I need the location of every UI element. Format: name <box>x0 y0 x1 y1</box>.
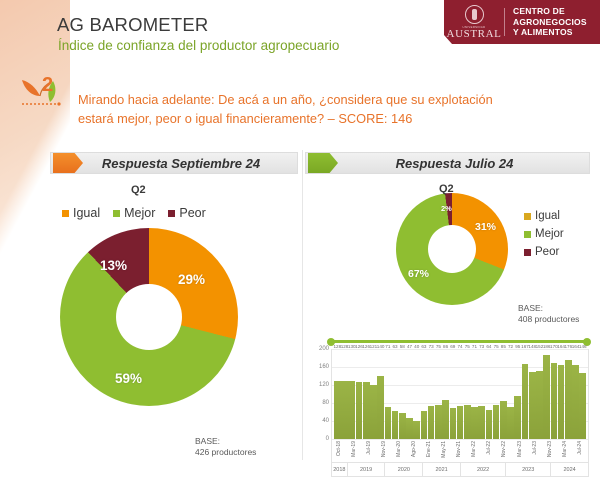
bar-column: 95 <box>514 349 521 439</box>
panel-header-label-right: Respuesta Julio 24 <box>338 156 589 171</box>
bar: 69 <box>450 408 457 439</box>
bar: 164 <box>558 365 565 439</box>
donut-label-peor-left: 13% <box>100 258 127 273</box>
base-value-right: 408 productores <box>518 314 579 325</box>
year-group-label: 2021 <box>422 462 460 477</box>
legend-item-mejor: Mejor <box>524 228 564 240</box>
logo-center-line-3: Y ALIMENTOS <box>513 27 587 38</box>
bar-value-label: 72 <box>508 344 513 349</box>
tree-icon <box>465 5 484 24</box>
bar: 148 <box>529 372 536 439</box>
bar: 71 <box>471 407 478 439</box>
bar-column: 73 <box>478 349 485 439</box>
y-axis-tick: 40 <box>322 418 329 424</box>
bar-value-label: 74 <box>457 344 462 349</box>
base-note-left: BASE: 426 productores <box>195 436 256 458</box>
x-axis-label-slot: Nov-22 <box>498 440 506 462</box>
x-axis-label-slot: Nov-23 <box>543 440 551 462</box>
bar-value-label: 40 <box>414 344 419 349</box>
year-group-label: 2020 <box>384 462 422 477</box>
bar: 126 <box>363 382 370 439</box>
base-label-left: BASE: <box>195 436 256 447</box>
bar: 63 <box>421 411 428 439</box>
bar: 63 <box>392 411 399 439</box>
x-axis-label-slot <box>385 440 393 462</box>
bar-column: 69 <box>450 349 457 439</box>
bar: 73 <box>428 406 435 439</box>
legend-label-peor: Peor <box>179 206 205 220</box>
x-axis-label-slot: Jul-19 <box>362 440 370 462</box>
bar-column: 126 <box>363 349 370 439</box>
x-axis-label-slot: Mar-20 <box>392 440 400 462</box>
austral-wordmark: UNIVERSIDAD AUSTRAL <box>444 5 504 40</box>
bar-value-label: 64 <box>486 344 491 349</box>
bar-column: 121 <box>370 349 377 439</box>
bar-column: 140 <box>377 349 384 439</box>
bar-value-label: 69 <box>450 344 455 349</box>
panel-header-label-left: Respuesta Septiembre 24 <box>83 156 297 171</box>
page-subtitle: Índice de confianza del productor agrope… <box>58 38 339 53</box>
x-axis-label-slot <box>581 440 589 462</box>
bar: 85 <box>500 401 507 439</box>
donut-hole-right <box>428 225 476 273</box>
x-axis-label-slot <box>415 440 423 462</box>
y-axis-tick: 200 <box>319 346 329 352</box>
x-axis-label-slot: Jul-22 <box>483 440 491 462</box>
x-axis-label-slot <box>400 440 408 462</box>
bar-value-label: 146 <box>579 344 587 349</box>
bar-series: 1281281301261261211407163584740637375866… <box>333 349 587 439</box>
bar-column: 167 <box>522 349 529 439</box>
legend-swatch-peor <box>524 249 531 256</box>
bar-column: 126 <box>356 349 363 439</box>
donut-label-peor-right: 2% <box>441 204 452 213</box>
bar-column: 71 <box>385 349 392 439</box>
bar: 130 <box>348 381 355 440</box>
bar-column: 72 <box>507 349 514 439</box>
bar-column: 40 <box>413 349 420 439</box>
bar-value-label: 85 <box>501 344 506 349</box>
x-axis-label-slot: Mar-24 <box>558 440 566 462</box>
bar: 176 <box>565 360 572 439</box>
bar: 167 <box>522 364 529 439</box>
x-axis-label-slot: Mar-23 <box>513 440 521 462</box>
legend-item-mejor: Mejor <box>113 206 155 220</box>
x-axis-label-slot <box>460 440 468 462</box>
bar-column: 58 <box>399 349 406 439</box>
bar-column: 73 <box>428 349 435 439</box>
x-axis-label-slot <box>475 440 483 462</box>
legend-item-peor: Peor <box>168 206 205 220</box>
bar-value-label: 140 <box>377 344 385 349</box>
bar-column: 164 <box>572 349 579 439</box>
chart-title-left: Q2 <box>131 184 146 196</box>
bar: 74 <box>457 406 464 439</box>
bar: 75 <box>435 405 442 439</box>
x-axis-label-slot: Mar-19 <box>347 440 355 462</box>
y-axis-tick: 0 <box>326 436 329 442</box>
legend-right: Igual Mejor Peor <box>524 210 564 258</box>
bar-column: 71 <box>471 349 478 439</box>
bar-column: 85 <box>500 349 507 439</box>
bar-value-label: 75 <box>465 344 470 349</box>
bar-column: 186 <box>543 349 550 439</box>
donut-label-igual-left: 29% <box>178 272 205 287</box>
bar: 75 <box>464 405 471 439</box>
panel-divider <box>302 150 303 460</box>
bar: 164 <box>572 365 579 439</box>
bar-value-label: 71 <box>385 344 390 349</box>
page-title: AG BAROMETER <box>57 14 208 36</box>
bar: 140 <box>377 376 384 439</box>
x-axis-label-slot: Jul-23 <box>528 440 536 462</box>
question-text: Mirando hacia adelante: De acá a un año,… <box>78 90 578 128</box>
x-axis-label-slot <box>340 440 348 462</box>
bar: 95 <box>514 396 521 439</box>
question-text-line-2: estará mejor, peor o igual financieramen… <box>78 109 578 128</box>
bar: 152 <box>536 371 543 439</box>
x-axis-label-slot <box>490 440 498 462</box>
logo-austral-label: AUSTRAL <box>447 29 502 40</box>
year-group-label: 2018 <box>331 462 347 477</box>
bar-value-label: 58 <box>400 344 405 349</box>
base-value-left: 426 productores <box>195 447 256 458</box>
x-axis-label-slot <box>565 440 573 462</box>
donut-hole-left <box>116 284 182 350</box>
bar-column: 75 <box>493 349 500 439</box>
x-axis-year-groups: 2018201920202021202220232024 <box>331 462 589 477</box>
year-group-label: 2022 <box>460 462 505 477</box>
bar: 47 <box>406 418 413 439</box>
x-axis-label-slot <box>550 440 558 462</box>
x-axis-label-slot: Jul-24 <box>573 440 581 462</box>
year-group-label: 2023 <box>505 462 550 477</box>
bar-column: 130 <box>348 349 355 439</box>
legend-item-igual: Igual <box>524 210 564 222</box>
bar-value-label: 86 <box>443 344 448 349</box>
question-text-line-1: Mirando hacia adelante: De acá a un año,… <box>78 90 578 109</box>
bar-column: 128 <box>341 349 348 439</box>
bar-column: 47 <box>406 349 413 439</box>
bar-value-label: 95 <box>515 344 520 349</box>
bar: 128 <box>334 381 341 439</box>
bar: 126 <box>356 382 363 439</box>
x-axis-label-slot: May-21 <box>437 440 445 462</box>
year-group-label: 2024 <box>550 462 589 477</box>
bar: 128 <box>341 381 348 439</box>
bar-column: 63 <box>392 349 399 439</box>
bar-value-label: 63 <box>393 344 398 349</box>
bar-value-label: 71 <box>472 344 477 349</box>
legend-swatch-igual <box>62 210 69 217</box>
x-axis-label-slot: Nov-19 <box>377 440 385 462</box>
x-axis-label-slot <box>370 440 378 462</box>
legend-left: Igual Mejor Peor <box>62 206 206 220</box>
panel-header-julio: Respuesta Julio 24 <box>305 152 590 174</box>
chart-title-right: Q2 <box>439 183 454 195</box>
bar-column: 75 <box>464 349 471 439</box>
legend-swatch-mejor <box>524 231 531 238</box>
bar: 64 <box>486 410 493 439</box>
legend-item-peor: Peor <box>524 246 564 258</box>
bar: 40 <box>413 421 420 439</box>
panel-header-septiembre: Respuesta Septiembre 24 <box>50 152 298 174</box>
bar-value-label: 73 <box>429 344 434 349</box>
x-axis-label-slot: Nov-21 <box>453 440 461 462</box>
bar-column: 63 <box>421 349 428 439</box>
bar-column: 148 <box>529 349 536 439</box>
bar: 71 <box>385 407 392 439</box>
bar-value-label: 75 <box>436 344 441 349</box>
x-axis-label-slot <box>355 440 363 462</box>
legend-swatch-mejor <box>113 210 120 217</box>
legend-item-igual: Igual <box>62 206 100 220</box>
bar-column: 164 <box>558 349 565 439</box>
bar-column: 146 <box>579 349 586 439</box>
bar-column: 176 <box>565 349 572 439</box>
x-axis-label-slot <box>430 440 438 462</box>
bar: 121 <box>370 385 377 439</box>
y-axis-tick: 120 <box>319 382 329 388</box>
question-number: 2 <box>42 74 53 97</box>
bar: 72 <box>507 407 514 439</box>
legend-label-mejor: Mejor <box>535 228 564 240</box>
x-axis-label-slot: Ago-20 <box>407 440 415 462</box>
x-axis-label-slot <box>520 440 528 462</box>
x-axis-labels: Oct-18Mar-19Jul-19Nov-19Mar-20Ago-20Ene-… <box>331 440 589 462</box>
bar-column: 75 <box>435 349 442 439</box>
bar: 170 <box>551 363 558 440</box>
bar: 86 <box>442 400 449 439</box>
x-axis-label-slot: Oct-18 <box>332 440 340 462</box>
arrow-right-icon <box>308 153 338 173</box>
austral-logo: UNIVERSIDAD AUSTRAL CENTRO DE AGRONEGOCI… <box>444 0 600 44</box>
logo-center-line-2: AGRONEGOCIOS <box>513 17 587 28</box>
x-axis-label-slot <box>535 440 543 462</box>
score-history-chart: 04080120160200 1281281301261261211407163… <box>305 338 595 480</box>
arrow-right-icon <box>53 153 83 173</box>
donut-label-mejor-left: 59% <box>115 371 142 386</box>
bar: 75 <box>493 405 500 439</box>
donut-label-igual-right: 31% <box>475 221 496 233</box>
bar-chart-plot-area: 04080120160200 1281281301261261211407163… <box>331 349 589 440</box>
trend-line-accent <box>331 340 587 343</box>
bar-value-label: 75 <box>494 344 499 349</box>
x-axis-label-slot: Ene-21 <box>422 440 430 462</box>
legend-label-igual: Igual <box>535 210 560 222</box>
bar-column: 128 <box>334 349 341 439</box>
bar: 186 <box>543 355 550 439</box>
bar-column: 152 <box>536 349 543 439</box>
logo-center-name: CENTRO DE AGRONEGOCIOS Y ALIMENTOS <box>505 6 587 38</box>
bar-column: 64 <box>486 349 493 439</box>
bar-column: 74 <box>457 349 464 439</box>
y-axis-tick: 160 <box>319 364 329 370</box>
bar: 73 <box>478 406 485 439</box>
bar-value-label: 73 <box>479 344 484 349</box>
bar: 146 <box>579 373 586 439</box>
base-label-right: BASE: <box>518 303 579 314</box>
legend-label-mejor: Mejor <box>124 206 155 220</box>
logo-center-line-1: CENTRO DE <box>513 6 587 17</box>
bar: 58 <box>399 413 406 439</box>
donut-label-mejor-right: 67% <box>408 268 429 280</box>
bar-value-label: 47 <box>407 344 412 349</box>
legend-swatch-peor <box>168 210 175 217</box>
bar-column: 86 <box>442 349 449 439</box>
y-axis-tick: 80 <box>322 400 329 406</box>
x-axis-label-slot <box>505 440 513 462</box>
legend-label-peor: Peor <box>535 246 559 258</box>
x-axis-label-slot <box>445 440 453 462</box>
year-group-label: 2019 <box>347 462 385 477</box>
bar-column: 170 <box>551 349 558 439</box>
legend-swatch-igual <box>524 213 531 220</box>
legend-label-igual: Igual <box>73 206 100 220</box>
bar-value-label: 63 <box>421 344 426 349</box>
x-axis-label-slot: Mar-22 <box>468 440 476 462</box>
base-note-right: BASE: 408 productores <box>518 303 579 325</box>
